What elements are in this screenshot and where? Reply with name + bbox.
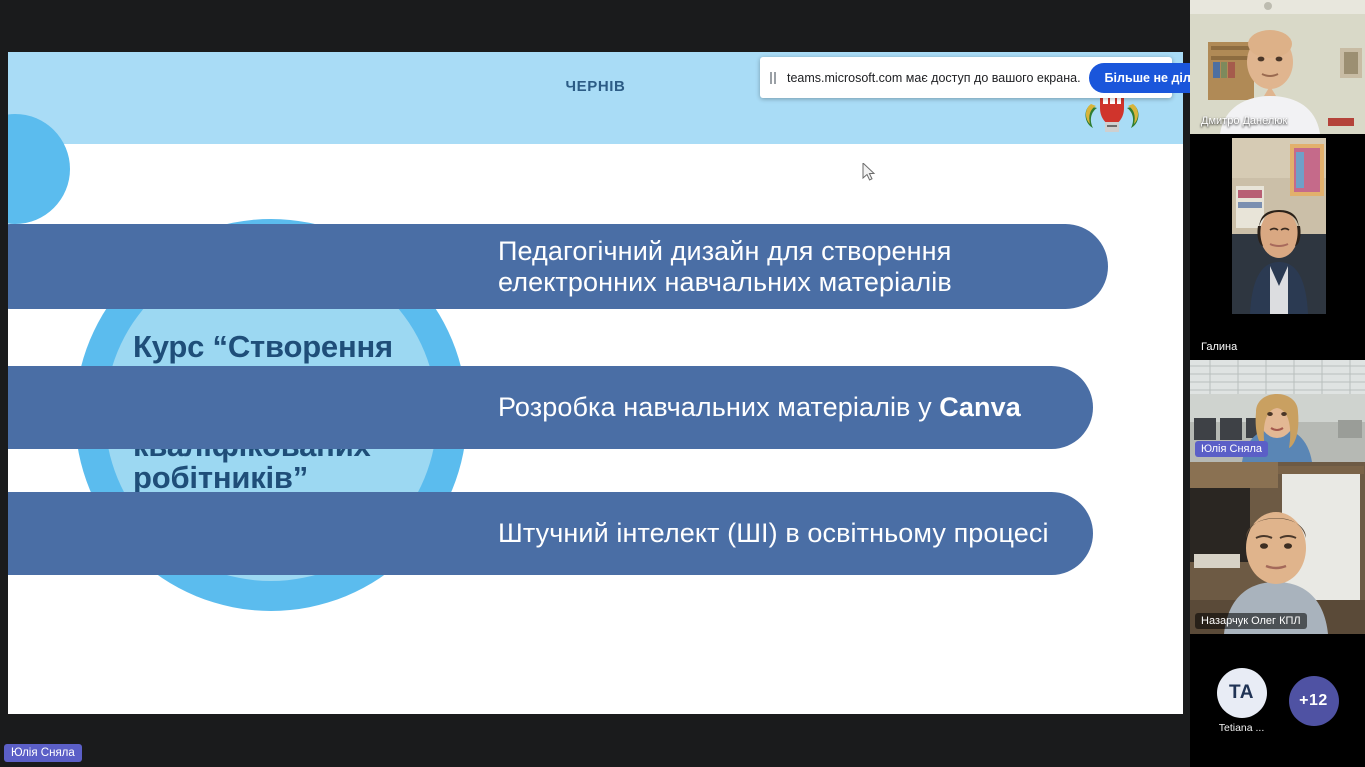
decorative-circle [8, 114, 70, 224]
participant-video [1190, 462, 1365, 634]
participant-tile[interactable]: Галина [1190, 134, 1365, 360]
more-participants-badge[interactable]: +12 [1289, 676, 1339, 726]
topic-pill-3-label: Штучний інтелект (ШІ) в освітньому проце… [8, 518, 1075, 548]
stop-sharing-button[interactable]: Більше не ділитися [1089, 63, 1190, 93]
mouse-cursor [862, 163, 876, 181]
participant-video [1232, 138, 1326, 314]
participant-tile[interactable]: Назарчук Олег КПЛ [1190, 462, 1365, 634]
topic-pill-2-label: Розробка навчальних матеріалів у Canva [8, 392, 1047, 422]
participant-video-frame [1232, 138, 1326, 314]
topic-pill-2-text: Розробка навчальних матеріалів у [498, 392, 939, 422]
topic-pill-1-label: Педагогічний дизайн для створення електр… [8, 236, 1108, 296]
participant-name: Дмитро Данелюк [1195, 113, 1293, 129]
topic-pill-2-brand: Canva [939, 392, 1021, 422]
screen-share-notification: teams.microsoft.com має доступ до вашого… [760, 57, 1172, 98]
participant-tile[interactable]: Дмитро Данелюк [1190, 0, 1365, 134]
participant-name: Назарчук Олег КПЛ [1195, 613, 1307, 629]
presenter-name-badge: Юлія Сняла [4, 744, 82, 762]
participant-avatar-item[interactable]: TA Tetiana ... [1217, 668, 1267, 734]
roster-overflow-row: TA Tetiana ... +12 [1190, 634, 1365, 767]
share-notice-message: teams.microsoft.com має доступ до вашого… [787, 71, 1081, 85]
meeting-window: ЧЕРНІВ Курс “Створення якісного контенту… [0, 0, 1365, 767]
participant-name: Галина [1195, 339, 1243, 355]
participant-roster: Дмитро Данелюк [1190, 0, 1365, 767]
participant-tile[interactable]: Юлія Сняла [1190, 360, 1365, 462]
participant-name: Юлія Сняла [1195, 441, 1268, 457]
shared-screen-area: ЧЕРНІВ Курс “Створення якісного контенту… [0, 0, 1190, 767]
topic-pill-2: Розробка навчальних матеріалів у Canva [8, 366, 1093, 449]
avatar: TA [1217, 668, 1267, 718]
pause-icon [770, 72, 779, 84]
topic-pill-1: Педагогічний дизайн для створення електр… [8, 224, 1108, 309]
presentation-slide: ЧЕРНІВ Курс “Створення якісного контенту… [8, 52, 1183, 714]
topic-pill-3: Штучний інтелект (ШІ) в освітньому проце… [8, 492, 1093, 575]
avatar-label: Tetiana ... [1219, 722, 1265, 734]
